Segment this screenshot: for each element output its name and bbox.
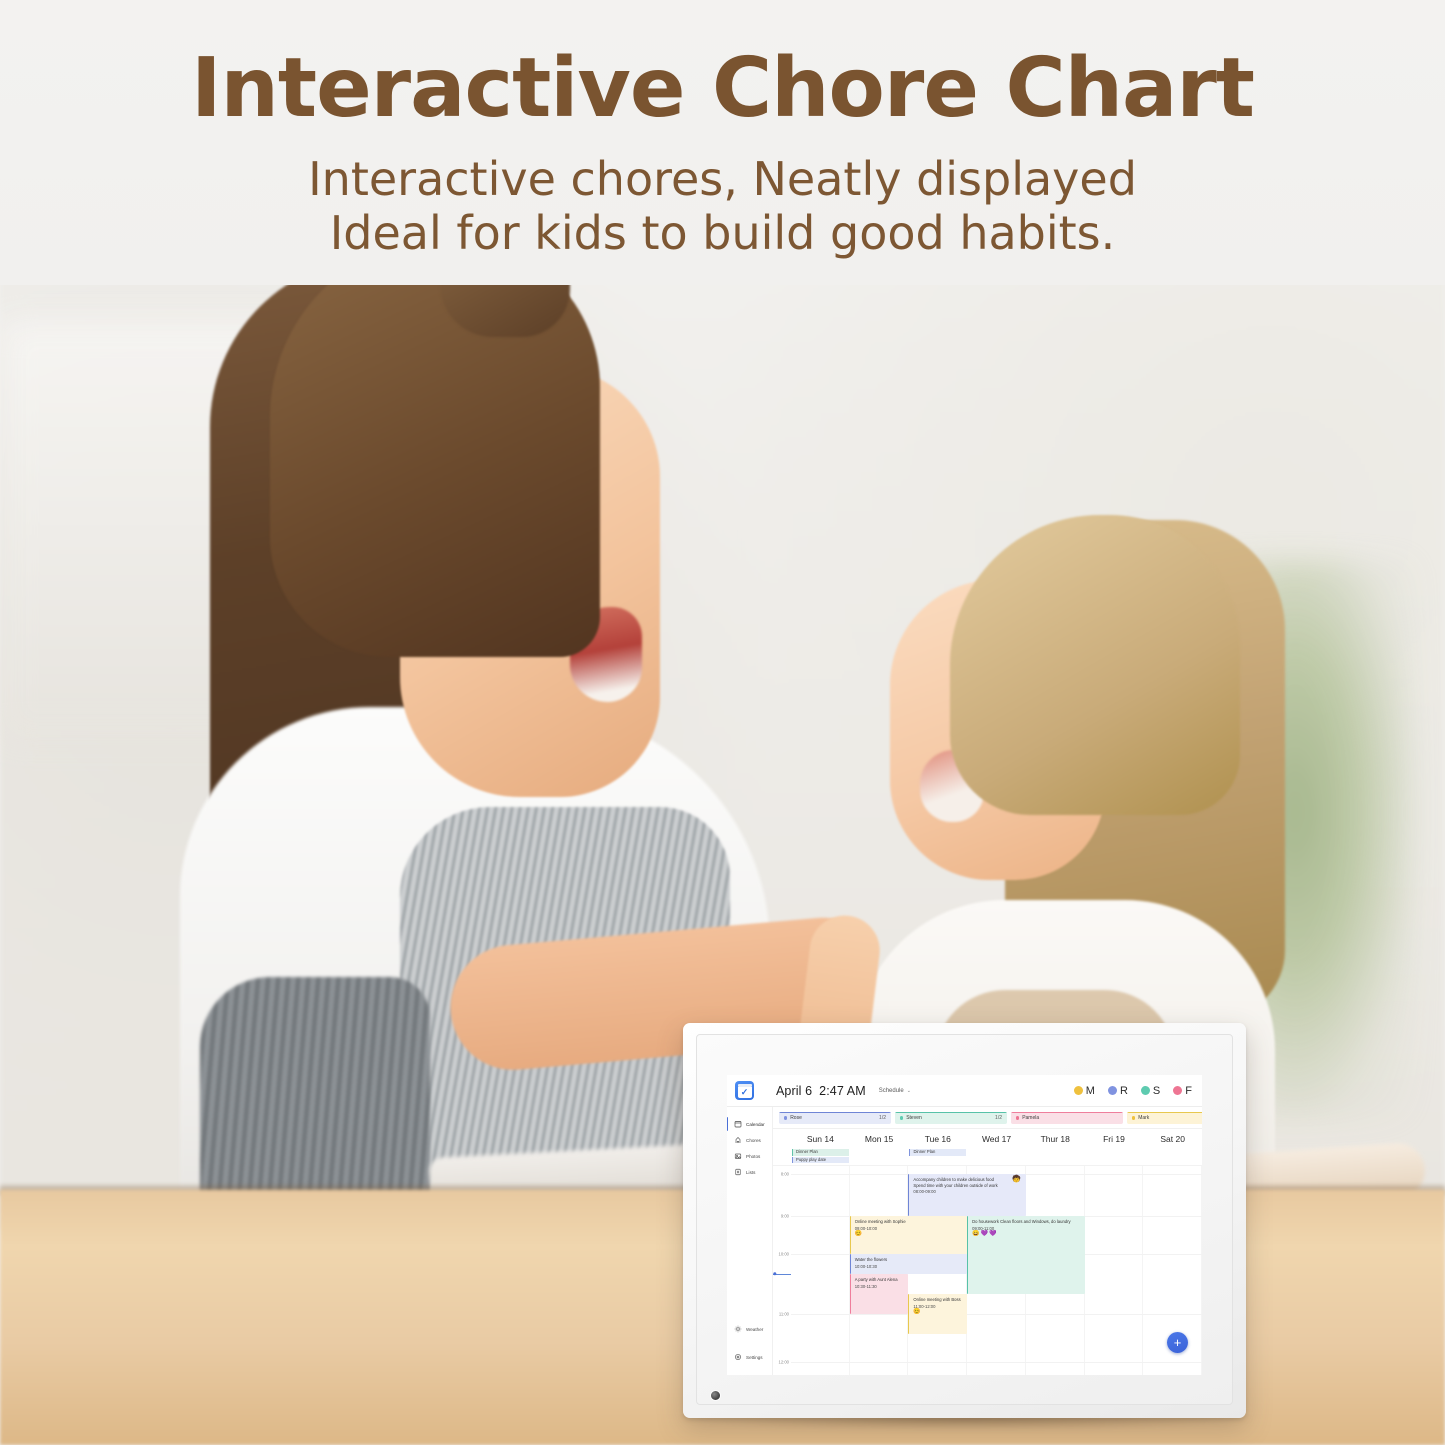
view-selector-dropdown[interactable]: Schedule ⌄: [879, 1088, 911, 1094]
app-topbar: ✓ April 6 2:47 AM Schedule ⌄ M R S: [727, 1075, 1202, 1107]
sidebar-item-calendar[interactable]: Calendar: [727, 1116, 772, 1132]
time-label: 8:00: [781, 1172, 789, 1177]
view-selector-label: Schedule: [879, 1088, 904, 1094]
sidebar-spacer: [727, 1180, 772, 1321]
avatar[interactable]: F: [1173, 1085, 1192, 1097]
member-dot: [784, 1116, 787, 1119]
time-gutter: 8:00 9:00 10:00 11:00 12:00: [773, 1166, 791, 1375]
all-day-cell-mon[interactable]: [850, 1149, 909, 1165]
event-title: Online meeting with Boss: [913, 1297, 964, 1303]
app-icon-check-glyph: ✓: [738, 1087, 752, 1098]
calendar-panel: Rose 1/2 Steven 1/2 Pamela: [773, 1107, 1202, 1375]
day-column-sun[interactable]: [791, 1166, 850, 1375]
member-chip-steven[interactable]: Steven 1/2: [895, 1112, 1007, 1124]
sidebar-item-label: Weather: [746, 1327, 763, 1332]
sidebar-item-label: Chores: [746, 1138, 761, 1143]
day-header-cell[interactable]: Thur 18: [1026, 1134, 1085, 1144]
avatar[interactable]: M: [1074, 1085, 1095, 1097]
weather-icon: [734, 1325, 742, 1333]
avatar-initial: M: [1086, 1085, 1095, 1097]
event-title: Do housework Clean floors and Windows, d…: [972, 1219, 1081, 1225]
all-day-event[interactable]: Dinner Plan: [792, 1149, 849, 1156]
calendar-icon: [734, 1120, 742, 1128]
calendar-event[interactable]: A party with Aunt Alena 10:30-11:30: [850, 1274, 909, 1314]
member-chip-name: Mark: [1138, 1115, 1149, 1121]
day-header-cell[interactable]: Wed 17: [967, 1134, 1026, 1144]
member-dot: [1132, 1116, 1135, 1119]
calendar-event[interactable]: Do housework Clean floors and Windows, d…: [967, 1216, 1084, 1294]
current-time: 2:47 AM: [819, 1084, 866, 1098]
calendar-event[interactable]: Online meeting with Boss 11:00-12:00 😊: [908, 1294, 967, 1334]
all-day-cell-tue[interactable]: Dinner Plan: [908, 1149, 967, 1165]
calendar-event[interactable]: Accompany children to make delicious foo…: [908, 1174, 1025, 1216]
event-emoji: 🧒: [1012, 1177, 1021, 1183]
current-time-dot: [773, 1272, 776, 1275]
page-title: Interactive Chore Chart: [0, 0, 1445, 130]
hour-gridline: [791, 1362, 1202, 1363]
all-day-cell-wed[interactable]: [967, 1149, 1026, 1165]
member-chip-count: 1/2: [985, 1115, 1002, 1121]
front-camera-icon: [711, 1391, 720, 1400]
avatar[interactable]: S: [1141, 1085, 1160, 1097]
sidebar-item-label: Settings: [746, 1355, 763, 1360]
photos-icon: [734, 1152, 742, 1160]
lists-icon: [734, 1168, 742, 1176]
tablet-device: ✓ April 6 2:47 AM Schedule ⌄ M R S: [683, 1023, 1246, 1418]
member-chip-name: Steven: [906, 1115, 922, 1121]
sidebar-nav: Calendar Chores: [727, 1107, 773, 1375]
time-label: 10:00: [779, 1252, 789, 1257]
member-dot: [1016, 1116, 1019, 1119]
member-chip-name: Pamela: [1022, 1115, 1039, 1121]
avatar-initial: R: [1120, 1085, 1128, 1097]
avatar-initial: S: [1153, 1085, 1160, 1097]
sidebar-item-label: Lists: [746, 1170, 755, 1175]
avatar-dot: [1074, 1086, 1083, 1095]
avatar-initial: F: [1185, 1085, 1192, 1097]
member-avatars: M R S F: [1074, 1085, 1192, 1097]
day-column-fri[interactable]: [1085, 1166, 1144, 1375]
event-title: Water the flowers: [855, 1257, 964, 1263]
promo-header: Interactive Chore Chart Interactive chor…: [0, 0, 1445, 285]
avatar-dot: [1108, 1086, 1117, 1095]
member-chip-rose[interactable]: Rose 1/2: [779, 1112, 891, 1124]
avatar-dot: [1173, 1086, 1182, 1095]
promo-subtitle-line2: Ideal for kids to build good habits.: [0, 206, 1445, 260]
event-title: A party with Aunt Alena: [855, 1277, 906, 1283]
calendar-event[interactable]: Online meeting with Sophie 09:00-10:00 😊: [850, 1216, 967, 1254]
time-grid: 8:00 9:00 10:00 11:00 12:00: [773, 1166, 1202, 1375]
event-time: 09:00-10:00: [855, 1226, 964, 1232]
member-chip-mark[interactable]: Mark: [1127, 1112, 1202, 1124]
avatar-dot: [1141, 1086, 1150, 1095]
day-header-cell[interactable]: Sun 14: [791, 1134, 850, 1144]
day-header-cell[interactable]: Fri 19: [1085, 1134, 1144, 1144]
chevron-down-icon: ⌄: [907, 1088, 911, 1094]
event-time: 10:30-11:30: [855, 1284, 906, 1290]
current-date: April 6: [776, 1084, 812, 1098]
day-header-row: Sun 14 Mon 15 Tue 16 Wed 17 Thur 18 Fri …: [773, 1129, 1202, 1149]
avatar[interactable]: R: [1108, 1085, 1128, 1097]
sidebar-item-chores[interactable]: Chores: [727, 1132, 772, 1148]
day-header-cell[interactable]: Sat 20: [1143, 1134, 1202, 1144]
day-header-cell[interactable]: Tue 16: [908, 1134, 967, 1144]
sidebar-item-settings[interactable]: Settings: [727, 1349, 772, 1365]
time-label: 9:00: [781, 1214, 789, 1219]
sidebar-item-lists[interactable]: Lists: [727, 1164, 772, 1180]
all-day-cell-thu[interactable]: [1026, 1149, 1085, 1165]
sidebar-item-label: Photos: [746, 1154, 760, 1159]
day-header-cell[interactable]: Mon 15: [850, 1134, 909, 1144]
all-day-cell-fri[interactable]: [1085, 1149, 1144, 1165]
promo-subtitle-line1: Interactive chores, Neatly displayed: [0, 152, 1445, 206]
all-day-cell-sat[interactable]: [1143, 1149, 1202, 1165]
app-body: Calendar Chores: [727, 1107, 1202, 1375]
all-day-event[interactable]: Puppy play date: [792, 1157, 849, 1164]
all-day-event[interactable]: Dinner Plan: [909, 1149, 966, 1156]
all-day-row: Dinner Plan Puppy play date Dinner Plan: [773, 1149, 1202, 1166]
chores-icon: [734, 1136, 742, 1144]
hour-gridline: [791, 1314, 1202, 1315]
event-emoji: 😊: [913, 1309, 921, 1315]
time-label: 11:00: [779, 1312, 789, 1317]
sidebar-item-weather[interactable]: Weather: [727, 1321, 772, 1337]
calendar-event[interactable]: Water the flowers 10:00-10:30: [850, 1254, 967, 1274]
member-chip-count: 1/2: [869, 1115, 886, 1121]
add-event-button[interactable]: +: [1167, 1332, 1188, 1353]
sidebar-item-label: Calendar: [746, 1122, 765, 1127]
gear-icon: [734, 1353, 742, 1361]
promo-subtitle: Interactive chores, Neatly displayed Ide…: [0, 152, 1445, 261]
app-screen: ✓ April 6 2:47 AM Schedule ⌄ M R S: [727, 1075, 1202, 1375]
member-dot: [900, 1116, 903, 1119]
member-chip-pamela[interactable]: Pamela: [1011, 1112, 1123, 1124]
event-emoji: 😊: [855, 1231, 863, 1237]
time-label: 12:00: [779, 1360, 789, 1365]
member-chip-name: Rose: [790, 1115, 802, 1121]
member-chip-row: Rose 1/2 Steven 1/2 Pamela: [773, 1107, 1202, 1129]
event-title: Online meeting with Sophie: [855, 1219, 964, 1225]
calendar-check-icon: ✓: [735, 1081, 754, 1100]
event-emoji: 😄💜💜: [972, 1231, 997, 1237]
all-day-cell-sun[interactable]: Dinner Plan Puppy play date: [791, 1149, 850, 1165]
day-columns: Accompany children to make delicious foo…: [791, 1166, 1202, 1375]
event-time: 08:00-09:00: [913, 1189, 1022, 1195]
event-title-line2: Spend time with your children outside of…: [913, 1183, 1022, 1189]
event-time: 10:00-10:30: [855, 1264, 964, 1270]
sidebar-item-photos[interactable]: Photos: [727, 1148, 772, 1164]
